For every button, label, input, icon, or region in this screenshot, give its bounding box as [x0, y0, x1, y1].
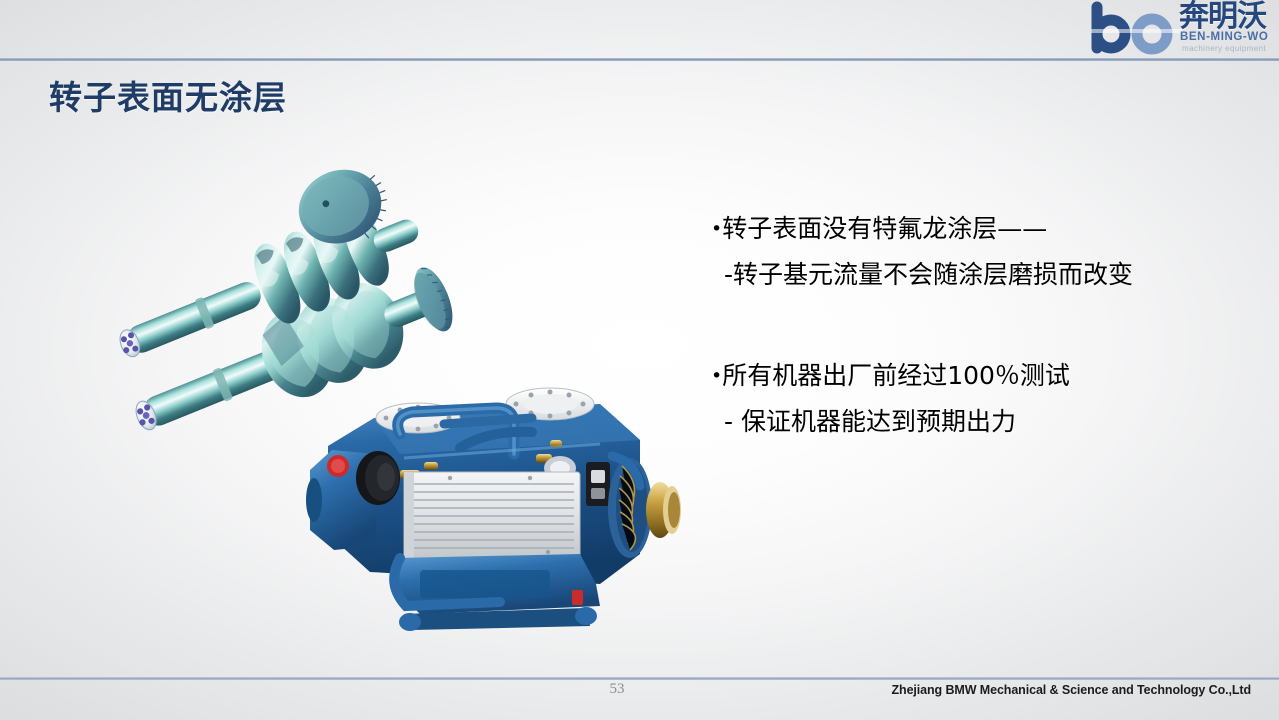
header-divider [0, 58, 1279, 61]
bullet-marker-1: • [711, 218, 722, 240]
slide-title: 转子表面无涂层 [49, 78, 287, 118]
logo-tagline: machinery equipment [1182, 44, 1266, 53]
page-number: 53 [597, 681, 637, 698]
bullet-2-line-1: •所有机器出厂前经过100％测试 [711, 353, 1231, 399]
bullet-2-text: 所有机器出厂前经过100％测试 [722, 361, 1070, 390]
footer-company-name: Zhejiang BMW Mechanical & Science and Te… [892, 683, 1252, 697]
company-logo: 奔明沃 BEN-MING-WO machinery equipment [1083, 0, 1279, 58]
bullet-1-line-1: •转子表面没有特氟龙涂层—— [711, 206, 1231, 252]
bullet-block-2: •所有机器出厂前经过100％测试 - 保证机器能达到预期出力 [711, 353, 1231, 444]
slide-body: •转子表面没有特氟龙涂层—— -转子基元流量不会随涂层磨损而改变 •所有机器出厂… [711, 206, 1231, 444]
bullet-2-line-2: - 保证机器能达到预期出力 [711, 399, 1231, 444]
screw-compressor-graphic [300, 358, 720, 643]
bo-monogram-icon [1091, 4, 1183, 52]
footer-divider [0, 677, 1279, 680]
bullet-marker-2: • [711, 365, 722, 387]
logo-english-name: BEN-MING-WO [1180, 31, 1268, 43]
bullet-1-text: 转子表面没有特氟龙涂层—— [722, 214, 1047, 243]
bullet-1-line-2: -转子基元流量不会随涂层磨损而改变 [711, 252, 1231, 297]
bullet-block-1: •转子表面没有特氟龙涂层—— -转子基元流量不会随涂层磨损而改变 [711, 206, 1231, 297]
text-spacer [711, 297, 1231, 353]
slide-canvas: 奔明沃 BEN-MING-WO machinery equipment 转子表面… [0, 0, 1279, 720]
compressor-illustration [300, 358, 720, 643]
logo-chinese-name: 奔明沃 [1179, 2, 1266, 32]
